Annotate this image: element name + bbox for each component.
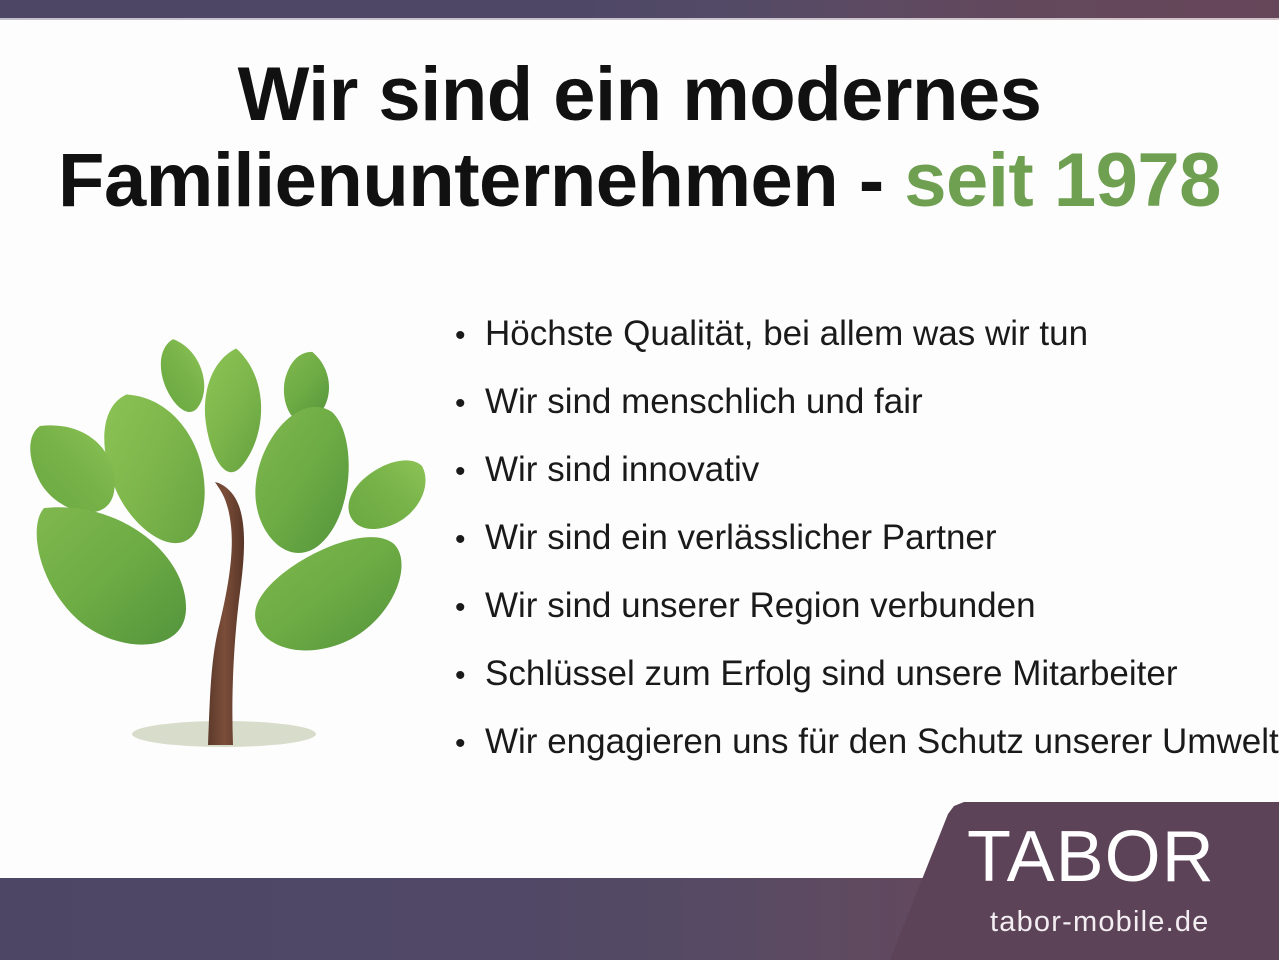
value-list: • Höchste Qualität, bei allem was wir tu… bbox=[455, 300, 1265, 776]
list-item-label: Wir engagieren uns für den Schutz unsere… bbox=[485, 708, 1279, 776]
list-item: • Höchste Qualität, bei allem was wir tu… bbox=[455, 300, 1265, 368]
list-item-label: Wir sind ein verlässlicher Partner bbox=[485, 504, 997, 572]
list-item: • Wir sind ein verlässlicher Partner bbox=[455, 504, 1265, 572]
tree-leaf bbox=[255, 537, 401, 650]
bullet-icon: • bbox=[455, 506, 485, 574]
list-item-label: Schlüssel zum Erfolg sind unsere Mitarbe… bbox=[485, 640, 1178, 708]
bullet-icon: • bbox=[455, 574, 485, 642]
top-accent-bar bbox=[0, 0, 1279, 18]
tree-leaf bbox=[349, 460, 426, 529]
list-item-label: Wir sind innovativ bbox=[485, 436, 759, 504]
top-accent-hairline bbox=[0, 18, 1279, 20]
bullet-icon: • bbox=[455, 642, 485, 710]
list-item-label: Wir sind unserer Region verbunden bbox=[485, 572, 1036, 640]
list-item: • Wir sind unserer Region verbunden bbox=[455, 572, 1265, 640]
list-item: • Wir engagieren uns für den Schutz unse… bbox=[455, 708, 1265, 776]
brand-url: tabor-mobile.de bbox=[990, 905, 1210, 939]
tree-trunk bbox=[208, 482, 244, 745]
tree-leaf bbox=[30, 425, 115, 512]
list-item: • Schlüssel zum Erfolg sind unsere Mitar… bbox=[455, 640, 1265, 708]
tree-leaf bbox=[157, 336, 208, 415]
bullet-icon: • bbox=[455, 710, 485, 778]
tree-leaf bbox=[198, 346, 267, 475]
bullet-icon: • bbox=[455, 302, 485, 370]
list-item: • Wir sind menschlich und fair bbox=[455, 368, 1265, 436]
tree-leaf bbox=[255, 407, 348, 553]
bullet-icon: • bbox=[455, 438, 485, 506]
list-item-label: Wir sind menschlich und fair bbox=[485, 368, 923, 436]
list-item: • Wir sind innovativ bbox=[455, 436, 1265, 504]
bullet-icon: • bbox=[455, 370, 485, 438]
tree-illustration bbox=[28, 330, 440, 760]
slide-canvas: Wir sind ein modernes Familienunternehme… bbox=[0, 0, 1279, 960]
brand-wordmark: TABOR bbox=[967, 818, 1215, 896]
page-title-line1: Wir sind ein modernes bbox=[238, 52, 1042, 137]
page-title-line2-prefix: Familienunternehmen - bbox=[58, 138, 904, 223]
page-title-accent: seit 1978 bbox=[904, 138, 1221, 223]
page-title: Wir sind ein modernes Familienunternehme… bbox=[0, 52, 1279, 224]
page-title-line2: Familienunternehmen - seit 1978 bbox=[0, 138, 1279, 224]
list-item-label: Höchste Qualität, bei allem was wir tun bbox=[485, 300, 1088, 368]
